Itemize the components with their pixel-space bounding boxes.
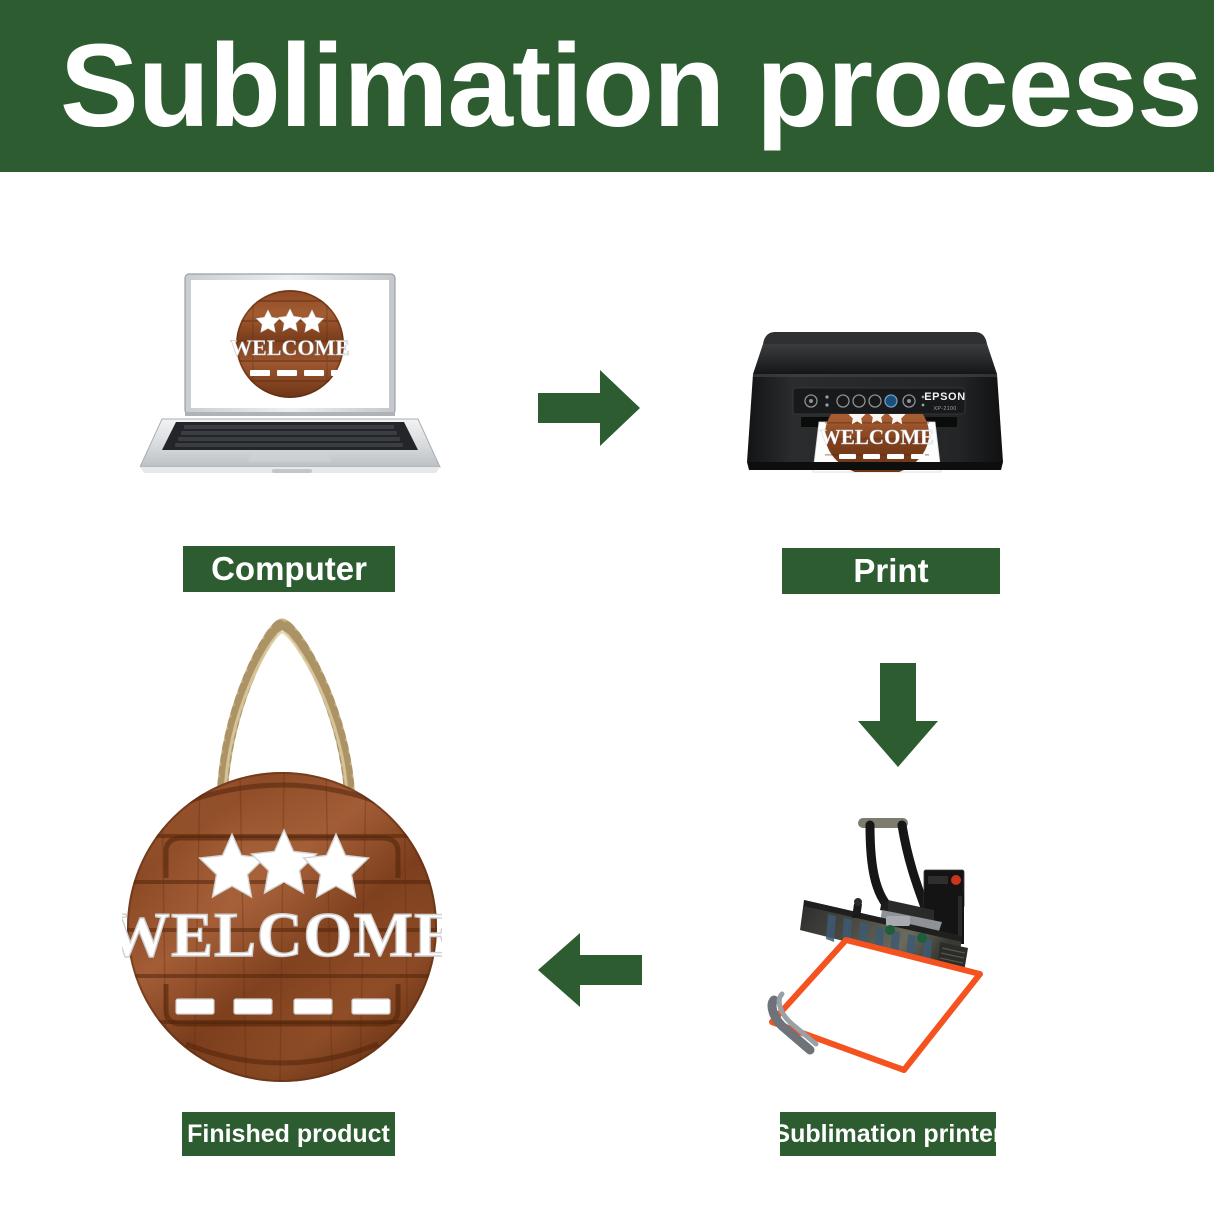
screen-welcome-text: WELCOME bbox=[230, 335, 350, 360]
label-sublimation-printer: Sublimation printer bbox=[780, 1112, 996, 1156]
arrow-press-to-product bbox=[538, 933, 642, 1007]
printer-icon: EPSON XP-2100 WELCOME bbox=[735, 322, 1015, 494]
laptop-icon: WELCOME bbox=[140, 262, 450, 487]
heat-press-icon bbox=[762, 792, 1012, 1082]
press-power-button[interactable] bbox=[951, 875, 961, 885]
arrow-computer-to-print bbox=[538, 370, 640, 446]
printer-brand-text: EPSON bbox=[924, 391, 966, 403]
step-computer-illustration: WELCOME bbox=[140, 262, 450, 487]
printer-model-text: XP-2100 bbox=[933, 406, 956, 412]
label-finished-product: Finished product bbox=[182, 1112, 395, 1156]
page-title: Sublimation process bbox=[60, 22, 1202, 150]
printed-welcome-text: WELCOME bbox=[820, 425, 934, 449]
step-sublimation-printer-illustration bbox=[762, 792, 1012, 1082]
label-computer: Computer bbox=[183, 546, 395, 592]
label-print: Print bbox=[782, 548, 1000, 594]
step-finished-product-illustration: WELCOME bbox=[122, 612, 442, 1090]
step-print-illustration: EPSON XP-2100 WELCOME bbox=[735, 322, 1015, 494]
wood-sign-icon: WELCOME bbox=[122, 612, 442, 1090]
arrow-print-to-press bbox=[858, 663, 938, 767]
sign-welcome-text: WELCOME bbox=[122, 900, 442, 970]
